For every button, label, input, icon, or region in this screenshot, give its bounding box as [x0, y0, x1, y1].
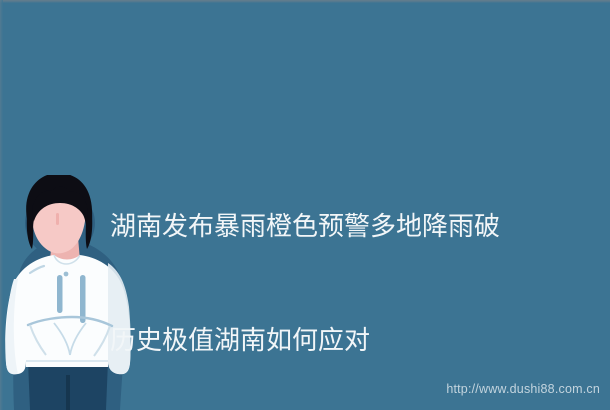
- page-title-line-2: 历史极值湖南如何应对: [110, 321, 602, 359]
- source-watermark: http://www.dushi88.com.cn: [446, 382, 600, 396]
- drawstring-left: [57, 275, 63, 313]
- page-title-line-1: 湖南发布暴雨橙色预警多地降雨破: [110, 207, 602, 245]
- pants: [28, 361, 108, 410]
- top-edge-border: [0, 0, 610, 3]
- nose: [56, 213, 59, 225]
- poster-canvas: 湖南发布暴雨橙色预警多地降雨破 历史极值湖南如何应对 http://www.du…: [0, 0, 610, 410]
- drawstring-right: [80, 275, 86, 323]
- page-title: 湖南发布暴雨橙色预警多地降雨破 历史极值湖南如何应对: [110, 131, 602, 410]
